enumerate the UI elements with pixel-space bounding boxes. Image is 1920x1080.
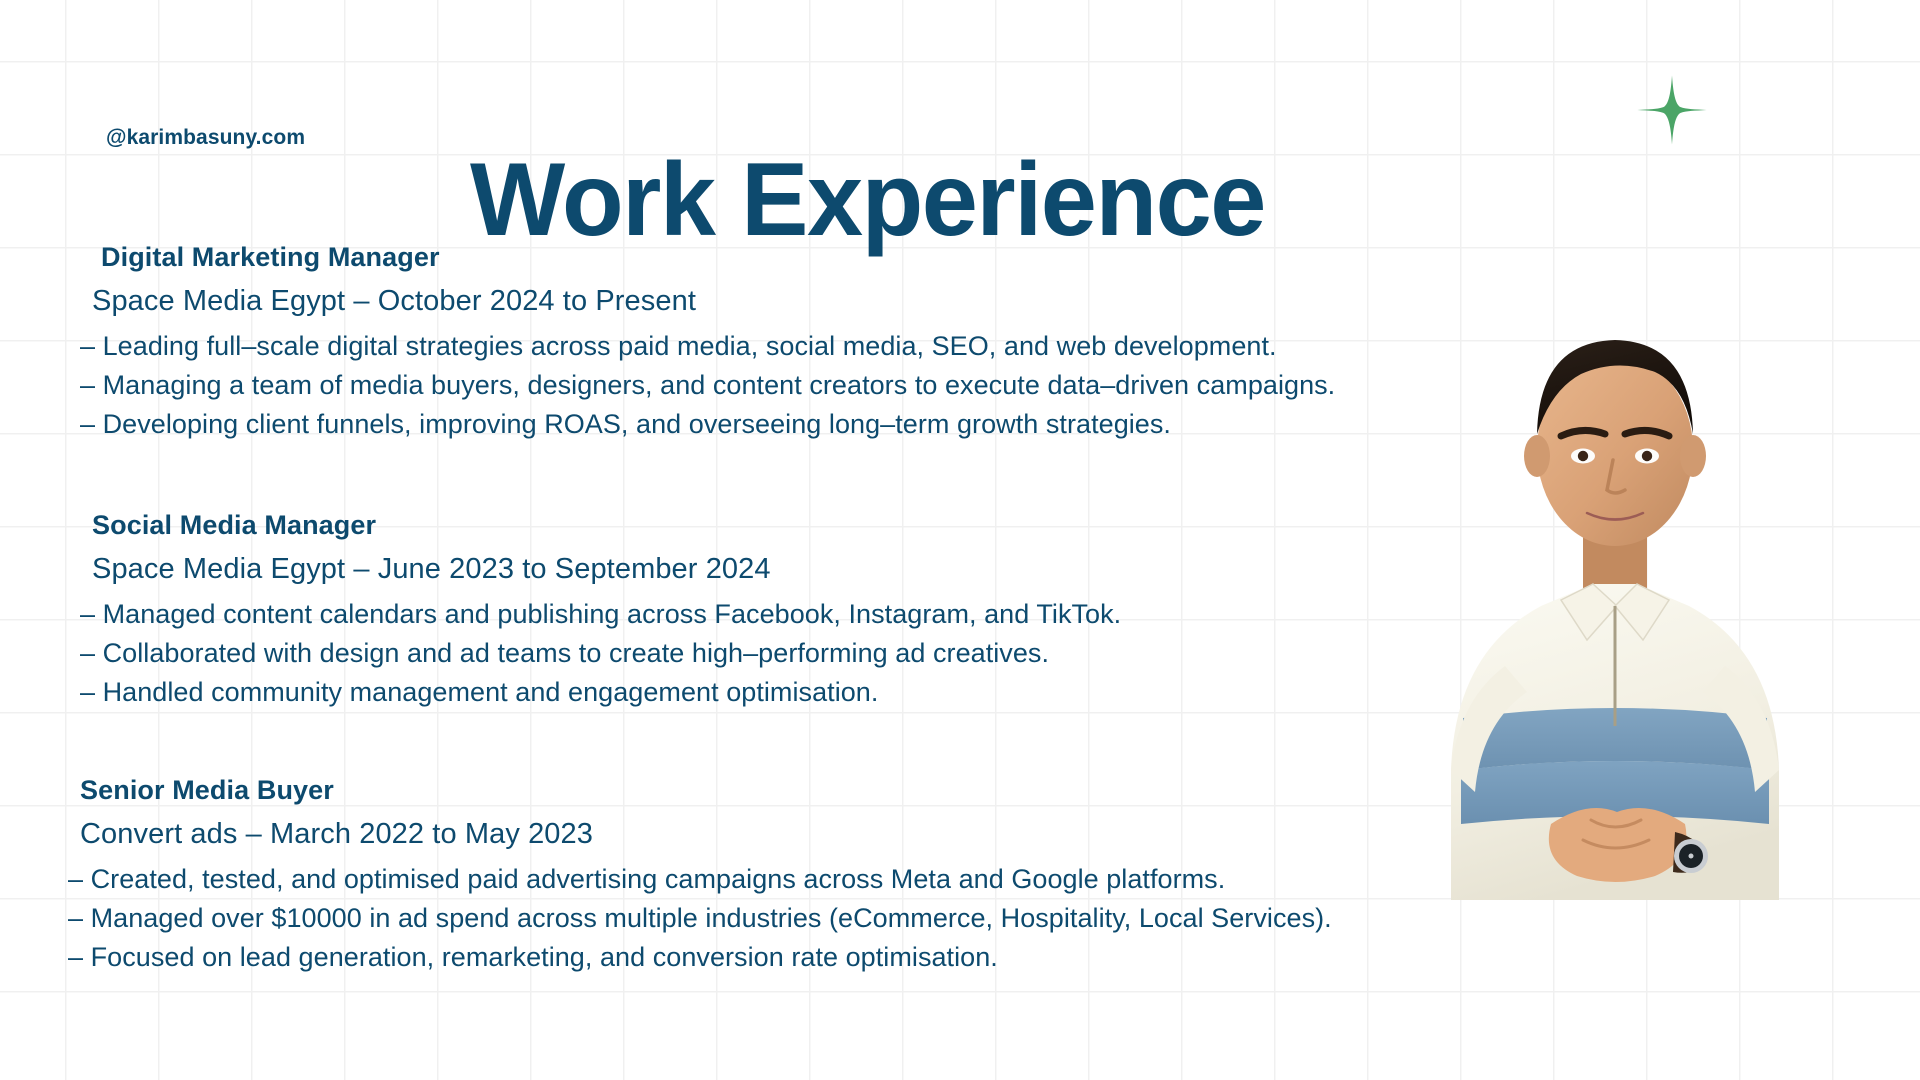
work-experience-slide: @karimbasuny.com Work Experience Digital… — [0, 0, 1920, 1080]
job-bullet: – Leading full–scale digital strategies … — [82, 327, 1412, 366]
job-bullet: – Focused on lead generation, remarketin… — [70, 938, 1412, 977]
experience-entry: Senior Media Buyer Convert ads – March 2… — [92, 775, 1412, 977]
job-bullet: – Handled community management and engag… — [82, 673, 1412, 712]
job-bullet: – Managing a team of media buyers, desig… — [82, 366, 1412, 405]
job-bullet: – Collaborated with design and ad teams … — [82, 634, 1412, 673]
job-bullet-list: – Leading full–scale digital strategies … — [92, 327, 1412, 444]
job-company-dates: Space Media Egypt – June 2023 to Septemb… — [92, 553, 1412, 586]
experience-entry: Digital Marketing Manager Space Media Eg… — [92, 242, 1412, 444]
job-company-dates: Space Media Egypt – October 2024 to Pres… — [92, 285, 1412, 318]
job-title: Social Media Manager — [92, 510, 1412, 541]
job-bullet: – Developing client funnels, improving R… — [82, 405, 1412, 444]
job-bullet-list: – Managed content calendars and publishi… — [92, 595, 1412, 712]
person-portrait-photo — [1355, 300, 1875, 900]
job-bullet-list: – Created, tested, and optimised paid ad… — [92, 860, 1412, 977]
sparkle-star-icon — [1636, 74, 1708, 146]
job-title: Senior Media Buyer — [80, 775, 1412, 806]
website-handle: @karimbasuny.com — [106, 126, 305, 150]
job-title: Digital Marketing Manager — [101, 242, 1412, 273]
page-title: Work Experience — [470, 148, 1265, 252]
experience-entry: Social Media Manager Space Media Egypt –… — [92, 510, 1412, 712]
job-bullet: – Managed over $10000 in ad spend across… — [70, 899, 1412, 938]
job-bullet: – Managed content calendars and publishi… — [82, 595, 1412, 634]
job-bullet: – Created, tested, and optimised paid ad… — [70, 860, 1412, 899]
job-company-dates: Convert ads – March 2022 to May 2023 — [80, 818, 1412, 851]
